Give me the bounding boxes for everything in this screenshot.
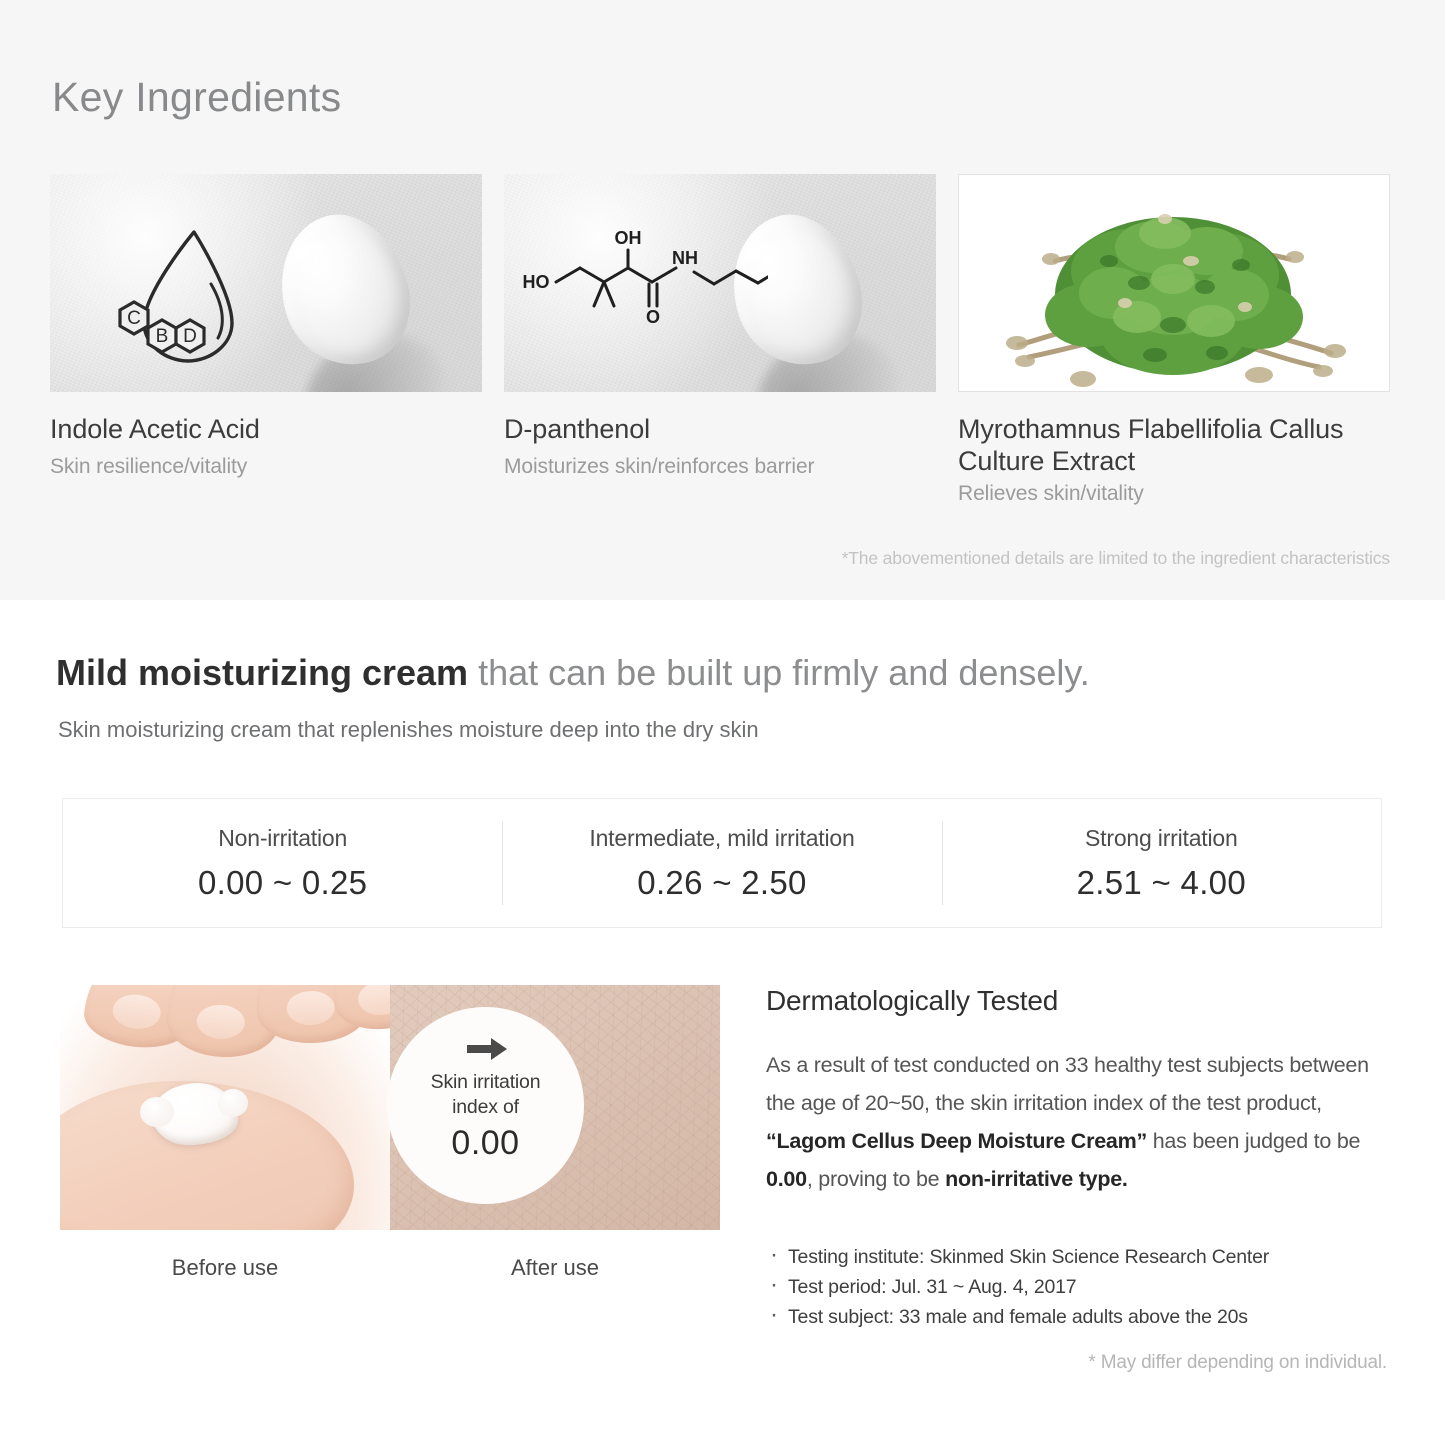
hex-label-d: D — [183, 326, 197, 347]
before-after-photo: Skin irritation index of 0.00 — [60, 985, 720, 1230]
ingredient-name: Myrothamnus Flabellifolia Callus Culture… — [958, 414, 1390, 478]
before-after-captions: Before use After use — [60, 1255, 720, 1281]
range-cell-intermediate-mild-irritation: Intermediate, mild irritation 0.26 ~ 2.5… — [502, 799, 941, 927]
label-nh: NH — [672, 248, 698, 268]
ingredient-card-d-panthenol: HO OH NH O OH D-panthenol Moisturizes sk… — [504, 174, 936, 506]
cbd-molecule-icon: C B D — [108, 222, 260, 372]
range-label: Strong irritation — [1085, 825, 1238, 852]
list-item: Testing institute: Skinmed Skin Science … — [766, 1242, 1391, 1272]
cbd-droplet-icon: C B D — [50, 174, 482, 392]
range-label: Intermediate, mild irritation — [589, 825, 854, 852]
plant-illustration — [959, 175, 1389, 391]
range-value: 0.00 ~ 0.25 — [198, 864, 367, 902]
product-detail-page: Key Ingredients C — [0, 0, 1445, 1445]
caption-before-use: Before use — [60, 1255, 390, 1281]
dermatologically-tested-title: Dermatologically Tested — [766, 985, 1058, 1017]
list-item: Test subject: 33 male and female adults … — [766, 1302, 1391, 1332]
dermatologically-tested-note: * May differ depending on individual. — [1088, 1352, 1387, 1374]
cream-dollop — [152, 1083, 238, 1145]
key-ingredients-section: Key Ingredients C — [0, 0, 1445, 600]
mild-moisturizing-cream-section: Mild moisturizing cream that can be buil… — [0, 600, 1445, 1445]
panthenol-structure: HO OH NH O OH — [504, 174, 936, 392]
ingredient-name: D-panthenol — [504, 414, 936, 446]
ingredient-description: Skin resilience/vitality — [50, 455, 482, 479]
badge-line-2: index of — [452, 1095, 519, 1119]
cream-subheadline: Skin moisturizing cream that replenishes… — [58, 717, 759, 743]
ingredient-grid: C B D Indole Acetic Acid Skin resilience… — [50, 174, 1390, 506]
derm-body-part-2: has been judged to be — [1147, 1129, 1360, 1153]
cream-headline: Mild moisturizing cream that can be buil… — [56, 653, 1090, 693]
fingernail — [196, 1004, 246, 1040]
irritation-range-table: Non-irritation 0.00 ~ 0.25 Intermediate,… — [62, 798, 1382, 928]
ingredient-description: Relieves skin/vitality — [958, 482, 1390, 506]
caption-after-use: After use — [390, 1255, 720, 1281]
derm-body-part-1: As a result of test conducted on 33 heal… — [766, 1053, 1369, 1115]
panthenol-molecule-icon: HO OH NH O OH — [518, 230, 768, 350]
list-item: Test period: Jul. 31 ~ Aug. 4, 2017 — [766, 1272, 1391, 1302]
hex-label-c: C — [127, 308, 141, 329]
ingredient-name: Indole Acetic Acid — [50, 414, 482, 446]
ingredient-card-myrothamnus: Myrothamnus Flabellifolia Callus Culture… — [958, 174, 1390, 506]
label-o: O — [646, 307, 660, 327]
derm-product-name: “Lagom Cellus Deep Moisture Cream” — [766, 1129, 1147, 1153]
hex-label-b: B — [156, 326, 169, 347]
range-cell-strong-irritation: Strong irritation 2.51 ~ 4.00 — [942, 799, 1381, 927]
skin-irritation-index-badge: Skin irritation index of 0.00 — [387, 1007, 584, 1204]
headline-bold: Mild moisturizing cream — [56, 652, 468, 693]
derm-body-part-3: , proving to be — [807, 1167, 945, 1191]
range-cell-non-irritation: Non-irritation 0.00 ~ 0.25 — [63, 799, 502, 927]
range-value: 0.26 ~ 2.50 — [637, 864, 806, 902]
ingredient-description: Moisturizes skin/reinforces barrier — [504, 455, 936, 479]
fingernail — [286, 990, 335, 1026]
badge-line-1: Skin irritation — [431, 1070, 541, 1094]
fingernail — [356, 985, 390, 1017]
ingredient-card-indole-acetic-acid: C B D Indole Acetic Acid Skin resilience… — [50, 174, 482, 506]
badge-index-value: 0.00 — [451, 1124, 519, 1163]
fingernail — [111, 992, 162, 1031]
ingredients-footnote: *The abovementioned details are limited … — [842, 548, 1390, 569]
range-value: 2.51 ~ 4.00 — [1077, 864, 1246, 902]
headline-rest: that can be built up firmly and densely. — [468, 652, 1090, 693]
range-label: Non-irritation — [218, 825, 347, 852]
derm-index-value: 0.00 — [766, 1167, 807, 1191]
before-use-image — [60, 985, 390, 1230]
dermatologically-tested-body: As a result of test conducted on 33 heal… — [766, 1046, 1391, 1198]
label-ho: HO — [523, 272, 550, 292]
resurrection-plant-photo — [958, 174, 1390, 392]
test-details-list: Testing institute: Skinmed Skin Science … — [766, 1242, 1391, 1332]
label-oh-top: OH — [615, 230, 642, 248]
page-title: Key Ingredients — [52, 74, 341, 121]
derm-conclusion: non-irritative type. — [945, 1167, 1128, 1191]
